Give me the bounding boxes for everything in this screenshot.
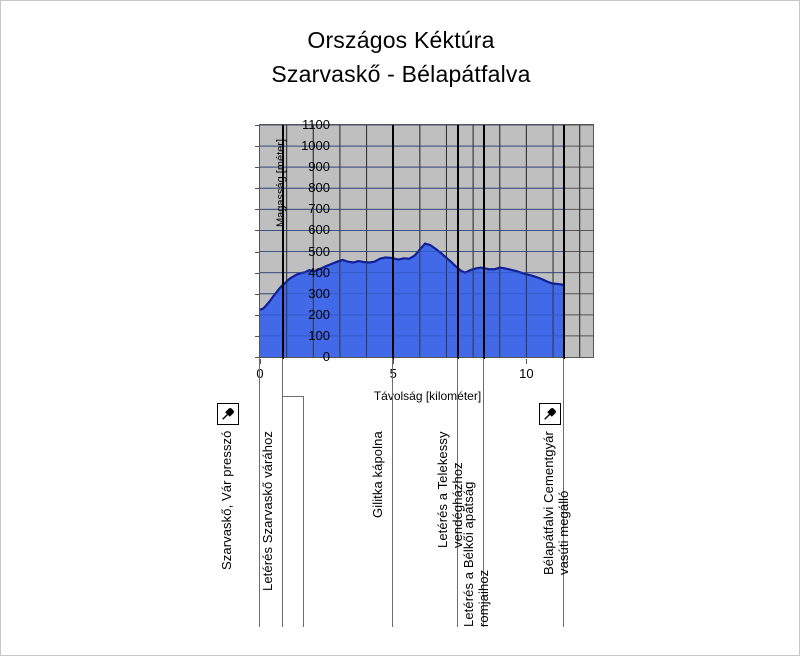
x-tick-label: 10 xyxy=(519,366,533,381)
title-line-1: Országos Kéktúra xyxy=(1,23,800,57)
x-tick-label: 5 xyxy=(390,366,397,381)
y-tick-label: 400 xyxy=(282,266,330,279)
railway-station-icon xyxy=(217,403,239,425)
y-tick-mark xyxy=(255,273,260,274)
x-tick-mark xyxy=(526,359,527,364)
y-tick-mark xyxy=(255,209,260,210)
waypoint-plotline xyxy=(282,125,284,359)
railway-station-icon xyxy=(539,403,561,425)
x-tick-label: 0 xyxy=(256,366,263,381)
y-tick-label: 0 xyxy=(282,350,330,363)
y-tick-label: 500 xyxy=(282,245,330,258)
y-tick-mark xyxy=(255,315,260,316)
waypoint-plotline xyxy=(563,125,565,359)
railway-station-icon xyxy=(218,404,238,424)
waypoint-label: Gilitka kápolna xyxy=(370,431,385,627)
railway-station-icon xyxy=(540,404,560,424)
waypoint-label: Bélapátfalvi Cementgyár vasúti megálló xyxy=(541,431,571,627)
y-tick-mark xyxy=(255,125,260,126)
waypoint-label: Letérés Szarvaskő várához xyxy=(260,431,275,627)
y-tick-mark xyxy=(255,294,260,295)
chart-page: Országos Kéktúra Szarvaskő - Bélapátfalv… xyxy=(0,0,800,656)
y-tick-label: 1000 xyxy=(282,139,330,152)
y-tick-label: 100 xyxy=(282,329,330,342)
y-tick-label: 200 xyxy=(282,308,330,321)
waypoint-plotline xyxy=(392,125,394,359)
waypoint-leader-line xyxy=(282,358,283,627)
waypoint-leader-elbow xyxy=(282,396,303,397)
y-tick-mark xyxy=(255,336,260,337)
waypoint-leader-line xyxy=(303,396,304,627)
y-tick-label: 300 xyxy=(282,287,330,300)
waypoint-plotline xyxy=(457,125,459,359)
y-tick-mark xyxy=(255,230,260,231)
page-title: Országos Kéktúra Szarvaskő - Bélapátfalv… xyxy=(1,23,800,91)
y-tick-label: 800 xyxy=(282,181,330,194)
y-tick-mark xyxy=(255,146,260,147)
y-tick-label: 1100 xyxy=(282,118,330,131)
waypoint-leader-line xyxy=(392,358,393,627)
elevation-chart-plot-area: Magasság [méter] 01002003004005006007008… xyxy=(259,124,594,358)
y-tick-mark xyxy=(255,188,260,189)
x-tick-mark xyxy=(393,359,394,364)
y-tick-mark xyxy=(255,167,260,168)
waypoint-label: Letérés a Bélkői apátság romjaihoz xyxy=(461,431,491,627)
waypoint-plotline xyxy=(483,125,485,359)
waypoint-label: Szarvaskő, Vár presszó xyxy=(219,431,234,627)
y-tick-label: 600 xyxy=(282,223,330,236)
x-axis-title: Távolság [kilométer] xyxy=(260,389,595,403)
title-line-2: Szarvaskő - Bélapátfalva xyxy=(1,57,800,91)
y-tick-label: 900 xyxy=(282,160,330,173)
x-tick-mark xyxy=(260,359,261,364)
y-tick-label: 700 xyxy=(282,202,330,215)
y-tick-mark xyxy=(255,252,260,253)
